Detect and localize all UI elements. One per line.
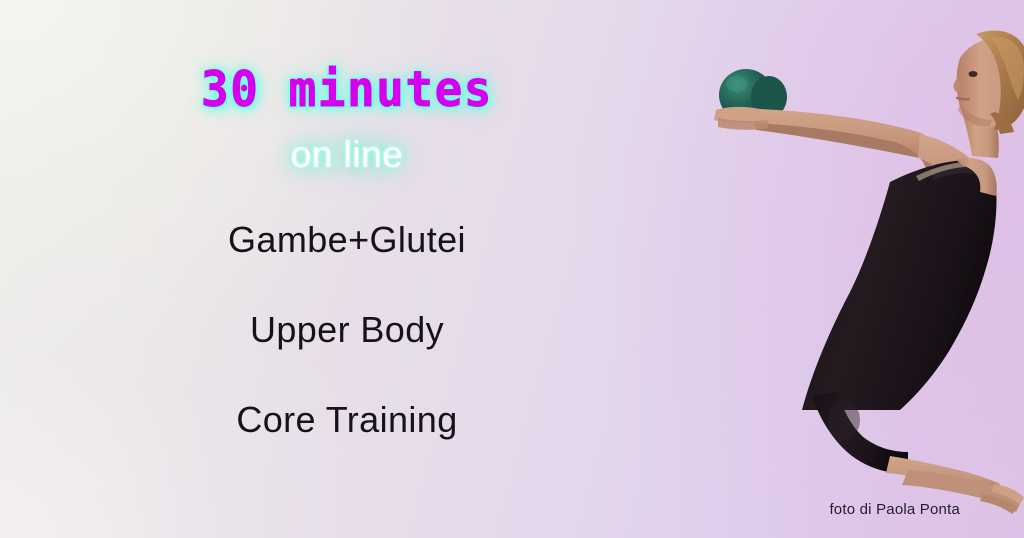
class-list: Gambe+Glutei Upper Body Core Training [0,222,694,438]
headline-text: 30 minutes [201,65,493,114]
subline-block: on line [0,136,694,173]
headline-block: 30 minutes [0,66,694,112]
photo-credit: foto di Paola Ponta [829,501,960,518]
poster-canvas: 30 minutes on line Gambe+Glutei Upper Bo… [0,0,1024,538]
photo-figure [694,0,1024,538]
class-item-core-training[interactable]: Core Training [0,402,694,438]
class-item-gambe-glutei[interactable]: Gambe+Glutei [0,222,694,258]
subline-text: on line [291,136,404,173]
eye [969,71,978,77]
class-item-upper-body[interactable]: Upper Body [0,312,694,348]
